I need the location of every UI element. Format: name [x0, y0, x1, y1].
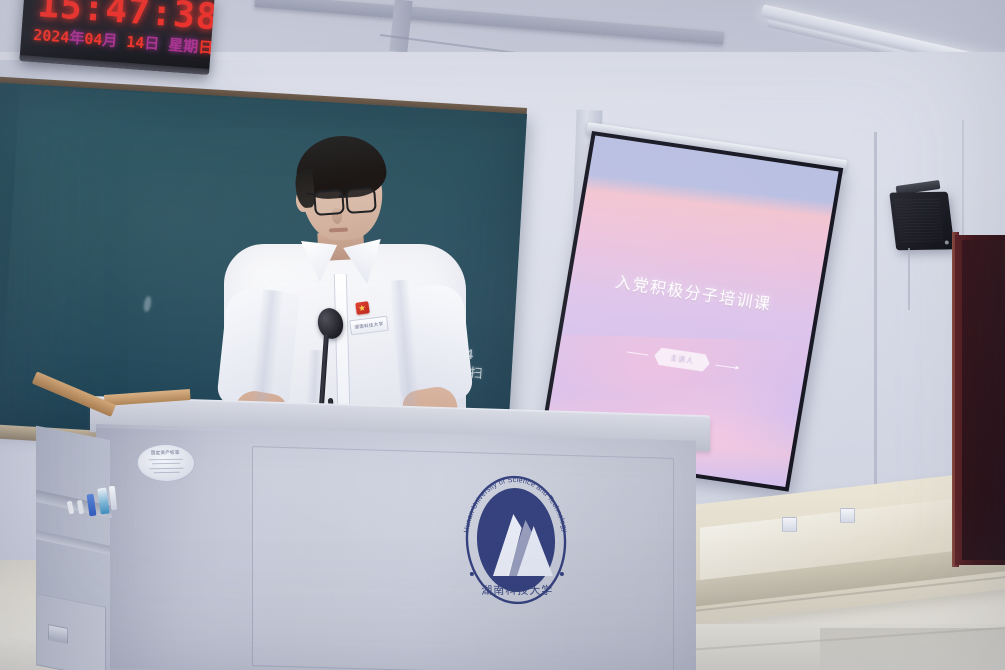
- eyeglasses-icon: [345, 187, 377, 214]
- emblem-inner-text: 湖南科技大学: [481, 583, 553, 597]
- asset-tag-line: [149, 459, 183, 461]
- party-emblem-pin-icon: [355, 301, 370, 315]
- slide-title: 入党积极分子培训课: [570, 262, 817, 322]
- wall-outlet: [840, 508, 855, 523]
- speaker-indicator: [945, 240, 950, 244]
- door-panel[interactable]: [962, 240, 1005, 560]
- clock-year-unit: 年: [69, 29, 85, 48]
- university-emblem: Hunan University of Science and Technolo…: [450, 470, 582, 610]
- speaker-at-podium: 湖南科技大学: [210, 140, 470, 440]
- asset-tag-title: 固定资产标签: [137, 450, 193, 457]
- podium-drawer[interactable]: [36, 593, 106, 670]
- clock-day: 14: [126, 33, 145, 52]
- classroom-photo: 4.14 已打扫 15:47:38 2024年04月 14日 星期日 入党积极分…: [0, 0, 1005, 670]
- wall-seam: [874, 132, 877, 512]
- wall-mounted-loudspeaker: [889, 192, 954, 251]
- asset-tag-line: [154, 472, 180, 473]
- slide-dash-left: [627, 351, 649, 355]
- asset-tag-line: [149, 468, 183, 470]
- clock-day-unit: 日: [144, 34, 160, 53]
- speaker-cable: [908, 248, 910, 310]
- wall-outlet: [782, 517, 797, 532]
- asset-tag-line: [152, 463, 180, 464]
- eyeglasses-icon: [313, 189, 345, 216]
- clock-year: 2024: [33, 26, 70, 47]
- speaker-grille-icon: [894, 198, 944, 242]
- slide-dash-right: [716, 364, 738, 368]
- clock-month-unit: 月: [102, 31, 118, 50]
- clock-month: 04: [84, 30, 103, 49]
- clock-weekday-label: 星期: [168, 36, 199, 56]
